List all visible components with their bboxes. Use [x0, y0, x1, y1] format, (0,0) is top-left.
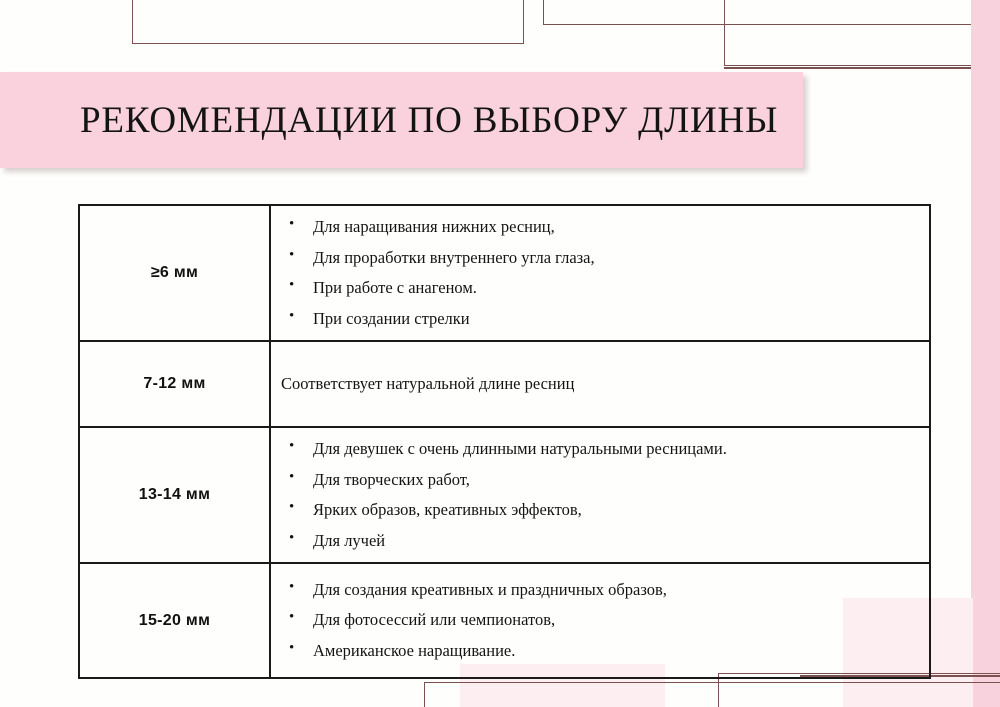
description-cell: Для наращивания нижних ресниц, Для прора… [270, 205, 930, 341]
bullet-list: Для девушек с очень длинными натуральным… [271, 434, 919, 556]
list-item: Для проработки внутреннего угла глаза, [271, 243, 919, 274]
bullet-list: Для наращивания нижних ресниц, Для прора… [271, 212, 919, 334]
title-banner: РЕКОМЕНДАЦИИ ПО ВЫБОРУ ДЛИНЫ [0, 72, 803, 168]
description-text: Соответствует натуральной длине ресниц [271, 372, 919, 397]
length-range-cell: ≥6 мм [79, 205, 270, 341]
length-range-cell: 15-20 мм [79, 563, 270, 678]
list-item: Американское наращивание. [271, 636, 919, 667]
bullet-list: Для создания креативных и праздничных об… [271, 575, 919, 667]
list-item: Для творческих работ, [271, 465, 919, 496]
slide-canvas: РЕКОМЕНДАЦИИ ПО ВЫБОРУ ДЛИНЫ ≥6 мм Для н… [0, 0, 1000, 707]
list-item: Для лучей [271, 526, 919, 557]
decorative-frame-top-right-upper [543, 0, 1000, 25]
decorative-frame-bottom-left [424, 682, 1000, 707]
table-row: 15-20 мм Для создания креативных и празд… [79, 563, 930, 678]
table-row: 13-14 мм Для девушек с очень длинными на… [79, 427, 930, 563]
list-item: Для наращивания нижних ресниц, [271, 212, 919, 243]
length-range-cell: 13-14 мм [79, 427, 270, 563]
decorative-rule-top-right [724, 67, 1000, 69]
list-item: Для создания креативных и праздничных об… [271, 575, 919, 606]
list-item: При работе с анагеном. [271, 273, 919, 304]
decorative-band-right [971, 0, 1000, 707]
description-cell: Соответствует натуральной длине ресниц [270, 341, 930, 427]
description-cell: Для девушек с очень длинными натуральным… [270, 427, 930, 563]
description-cell: Для создания креативных и праздничных об… [270, 563, 930, 678]
decorative-frame-top-left [132, 0, 524, 44]
list-item: При создании стрелки [271, 304, 919, 335]
lash-length-table: ≥6 мм Для наращивания нижних ресниц, Для… [78, 204, 931, 679]
table-row: ≥6 мм Для наращивания нижних ресниц, Для… [79, 205, 930, 341]
list-item: Для фотосессий или чемпионатов, [271, 605, 919, 636]
length-range-cell: 7-12 мм [79, 341, 270, 427]
table-row: 7-12 мм Соответствует натуральной длине … [79, 341, 930, 427]
list-item: Для девушек с очень длинными натуральным… [271, 434, 919, 465]
page-title: РЕКОМЕНДАЦИИ ПО ВЫБОРУ ДЛИНЫ [0, 102, 778, 139]
list-item: Ярких образов, креативных эффектов, [271, 495, 919, 526]
decorative-frame-top-right-lower [724, 0, 1000, 66]
